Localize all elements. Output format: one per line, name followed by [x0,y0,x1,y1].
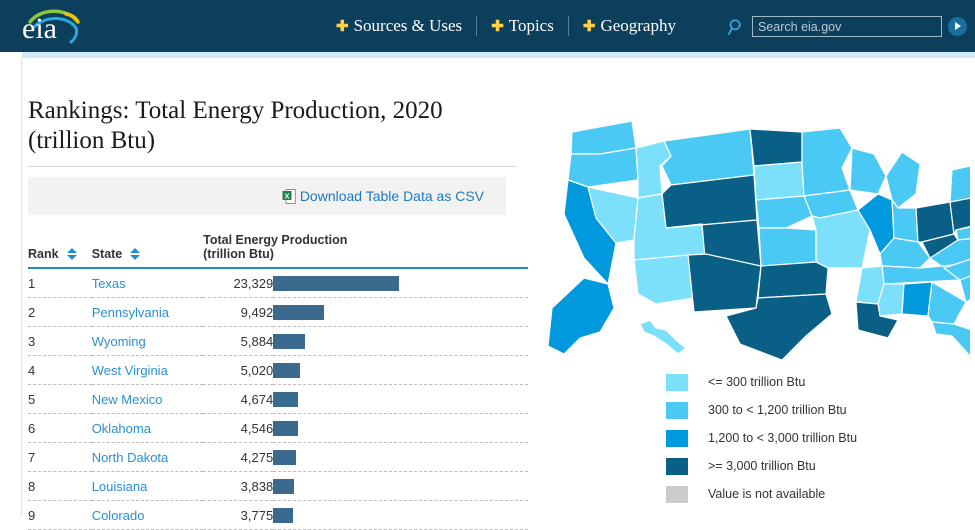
state-new-york [950,150,970,202]
legend-row: 1,200 to < 3,000 trillion Btu [666,424,966,452]
cell-state: Texas [92,268,203,298]
download-csv-label: Download Table Data as CSV [300,188,484,204]
cell-bar [273,414,528,443]
state-alabama [902,282,932,316]
value-bar [273,479,294,494]
state-south-dakota [754,162,804,200]
legend-label: >= 3,000 trillion Btu [708,459,816,473]
state-north-dakota [750,129,802,166]
cell-rank: 7 [28,443,92,472]
production-value: 4,275 [241,450,274,465]
cell-value: 4,275 [203,443,273,472]
cell-rank: 8 [28,472,92,501]
state-alaska [548,278,614,354]
state-minnesota [802,128,852,196]
column-header-rank-label: Rank [28,247,59,261]
production-value: 4,674 [241,392,274,407]
cell-value: 3,775 [203,501,273,530]
column-header-state-label: State [92,247,123,261]
cell-bar [273,356,528,385]
legend-row: 300 to < 1,200 trillion Btu [666,396,966,424]
table-row: 7North Dakota4,275 [28,443,528,472]
cell-value: 23,329 [203,268,273,298]
column-header-state[interactable]: State [92,233,203,268]
nav-item-topics[interactable]: ✚ Topics [477,16,568,36]
rank-value: 3 [28,334,35,349]
production-value: 9,492 [241,305,274,320]
main-nav: ✚ Sources & Uses ✚ Topics ✚ Geography [322,13,690,39]
nav-item-label: Geography [600,16,676,36]
legend-label: 1,200 to < 3,000 trillion Btu [708,431,857,445]
us-choropleth-map[interactable] [540,108,970,360]
legend-label: Value is not available [708,487,825,501]
rank-value: 2 [28,305,35,320]
state-missouri [812,210,870,268]
cell-bar [273,298,528,327]
eia-logo[interactable]: eia [14,6,86,48]
cell-value: 5,020 [203,356,273,385]
cell-bar [273,443,528,472]
nav-item-geography[interactable]: ✚ Geography [569,16,690,36]
table-body: 1Texas23,3292Pennsylvania9,4923Wyoming5,… [28,268,528,530]
state-link[interactable]: Wyoming [92,334,146,349]
state-oklahoma [758,262,828,298]
legend-label: <= 300 trillion Btu [708,375,805,389]
state-nebraska [756,196,812,228]
state-florida [932,322,970,358]
state-kansas [759,228,816,266]
search-area [728,16,967,37]
cell-value: 4,674 [203,385,273,414]
cell-bar [273,385,528,414]
production-value: 4,546 [241,421,274,436]
value-bar [273,276,399,291]
excel-file-icon: X [282,189,296,204]
sort-updown-icon[interactable] [67,247,78,261]
state-indiana [892,200,918,242]
rankings-panel: Rankings: Total Energy Production, 2020 … [28,96,528,530]
cell-state: New Mexico [92,385,203,414]
table-row: 9Colorado3,775 [28,501,528,530]
cell-rank: 6 [28,414,92,443]
production-value: 5,884 [241,334,274,349]
rank-value: 4 [28,363,35,378]
table-row: 1Texas23,329 [28,268,528,298]
nav-item-label: Topics [509,16,554,36]
table-row: 2Pennsylvania9,492 [28,298,528,327]
cell-state: West Virginia [92,356,203,385]
cell-state: Colorado [92,501,203,530]
production-value: 5,020 [241,363,274,378]
state-hawaii [640,320,686,354]
legend-swatch [666,458,688,475]
rank-value: 5 [28,392,35,407]
legend-swatch [666,486,688,503]
table-row: 6Oklahoma4,546 [28,414,528,443]
column-header-rank[interactable]: Rank [28,233,92,268]
table-toolbar: X Download Table Data as CSV [28,177,506,215]
value-bar [273,334,305,349]
state-link[interactable]: Louisiana [92,479,148,494]
column-header-production-line2: (trillion Btu) [203,247,528,261]
production-value: 3,838 [241,479,274,494]
cell-rank: 3 [28,327,92,356]
rank-value: 9 [28,508,35,523]
table-header-row: Rank State Total Energy Production (tril… [28,233,528,268]
value-bar [273,421,298,436]
legend-swatch [666,374,688,391]
content-left-border [21,58,22,515]
legend-label: 300 to < 1,200 trillion Btu [708,403,847,417]
title-divider [28,166,516,167]
page-title: Rankings: Total Energy Production, 2020 … [28,96,498,160]
cell-rank: 5 [28,385,92,414]
map-legend: <= 300 trillion Btu300 to < 1,200 trilli… [666,368,966,508]
site-header: eia ✚ Sources & Uses ✚ Topics ✚ Geograph… [0,0,975,52]
cell-value: 9,492 [203,298,273,327]
plus-icon: ✚ [336,19,349,34]
legend-swatch [666,430,688,447]
state-link[interactable]: North Dakota [92,450,169,465]
cell-rank: 2 [28,298,92,327]
state-georgia [928,282,966,324]
cell-rank: 1 [28,268,92,298]
value-bar [273,450,296,465]
state-arizona [634,255,694,304]
cell-state: Louisiana [92,472,203,501]
cell-state: Pennsylvania [92,298,203,327]
cell-value: 5,884 [203,327,273,356]
search-input[interactable] [752,16,942,37]
legend-row: >= 3,000 trillion Btu [666,452,966,480]
value-bar [273,392,298,407]
cell-value: 4,546 [203,414,273,443]
cell-bar [273,327,528,356]
download-csv-button[interactable]: X Download Table Data as CSV [282,188,484,204]
table-row: 8Louisiana3,838 [28,472,528,501]
eia-logo-text: eia [22,14,57,44]
header-accent-strip [22,52,975,58]
state-link[interactable]: Pennsylvania [92,305,169,320]
state-link[interactable]: Oklahoma [92,421,151,436]
cell-state: North Dakota [92,443,203,472]
rank-value: 1 [28,276,35,291]
svg-text:X: X [284,191,289,200]
table-row: 3Wyoming5,884 [28,327,528,356]
value-bar [273,363,300,378]
nav-item-sources-uses[interactable]: ✚ Sources & Uses [322,16,476,36]
production-value: 23,329 [233,276,273,291]
state-link[interactable]: Colorado [92,508,145,523]
column-header-production-line1: Total Energy Production [203,233,528,247]
plus-icon: ✚ [491,19,504,34]
state-link[interactable]: West Virginia [92,363,168,378]
value-bar [273,508,293,523]
sort-updown-icon[interactable] [130,247,141,261]
rank-value: 6 [28,421,35,436]
legend-swatch [666,402,688,419]
cell-state: Oklahoma [92,414,203,443]
cell-state: Wyoming [92,327,203,356]
table-row: 5New Mexico4,674 [28,385,528,414]
cell-bar [273,268,528,298]
state-link[interactable]: New Mexico [92,392,163,407]
legend-row: Value is not available [666,480,966,508]
rankings-table: Rank State Total Energy Production (tril… [28,233,528,530]
cell-value: 3,838 [203,472,273,501]
rank-value: 7 [28,450,35,465]
cell-rank: 9 [28,501,92,530]
state-link[interactable]: Texas [92,276,126,291]
search-icon[interactable] [728,18,746,36]
state-oregon [568,148,638,187]
nav-item-label: Sources & Uses [354,16,463,36]
table-row: 4West Virginia5,020 [28,356,528,385]
value-bar [273,305,324,320]
search-submit-button[interactable] [948,17,967,36]
table-head: Rank State Total Energy Production (tril… [28,233,528,268]
column-header-production: Total Energy Production (trillion Btu) [203,233,528,268]
cell-bar [273,472,528,501]
cell-bar [273,501,528,530]
legend-row: <= 300 trillion Btu [666,368,966,396]
state-wisconsin [850,148,886,194]
production-value: 3,775 [241,508,274,523]
cell-rank: 4 [28,356,92,385]
rank-value: 8 [28,479,35,494]
plus-icon: ✚ [583,19,596,34]
